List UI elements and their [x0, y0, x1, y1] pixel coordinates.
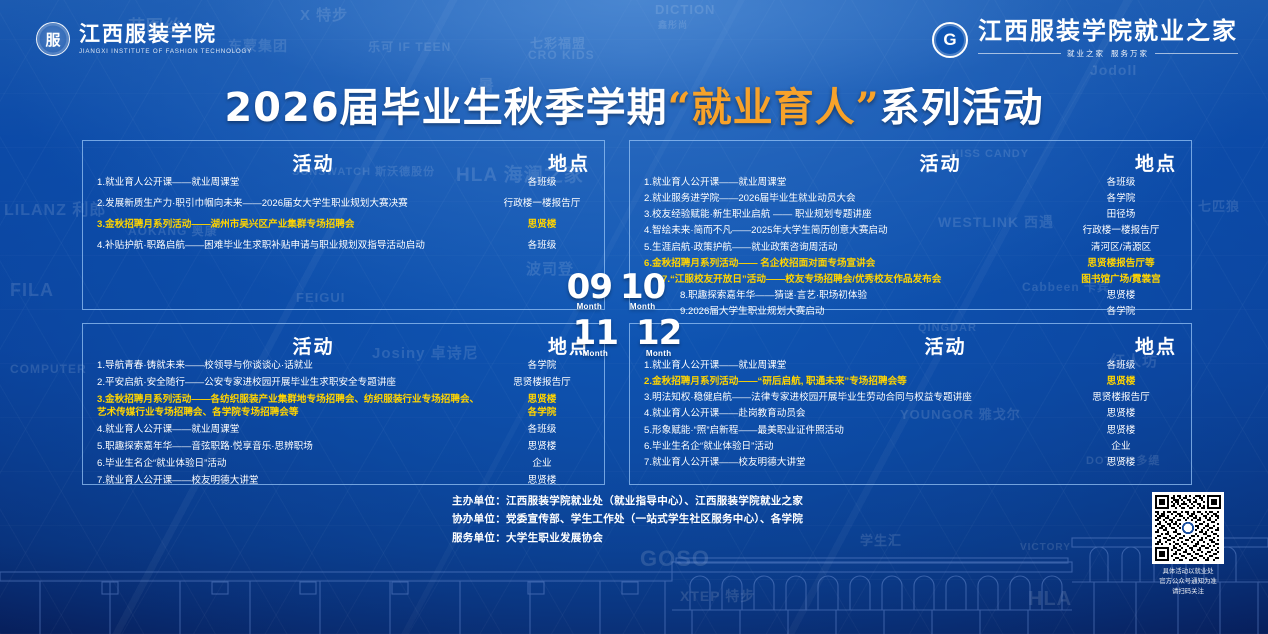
- activity-location: 各班级: [494, 240, 590, 253]
- activity-row: 4.补贴护航·职路启航——困难毕业生求职补贴申请与职业规划双指导活动启动各班级: [97, 240, 590, 253]
- column-header-activity: 活动: [37, 149, 590, 176]
- activity-rows: 1.就业育人公开课——就业周课堂各班级2.发展新质生产力·职引巾帼向未来——20…: [97, 177, 590, 253]
- activity-row: 4.就业育人公开课——赴岗教育动员会思贤楼: [644, 408, 1177, 421]
- activity-name: 2.发展新质生产力·职引巾帼向未来——2026届女大学生职业规划大赛决赛: [97, 198, 494, 211]
- activity-name: 9.2026届大学生职业规划大赛启动: [644, 306, 1065, 319]
- panel-header: 活动地点: [644, 332, 1177, 357]
- activity-name: 1.就业育人公开课——就业周课堂: [644, 360, 1065, 373]
- activity-row: 5.生涯启航·政策护航——就业政策咨询周活动清河区/清源区: [644, 242, 1177, 255]
- column-header-location: 地点: [1135, 332, 1177, 357]
- column-header-location: 地点: [548, 149, 590, 174]
- panel-header: 活动地点: [97, 332, 590, 357]
- activity-location: 思贤楼: [1065, 457, 1177, 470]
- activity-name: 1.导航青春·铸就未来——校领导与你谈谈心·话就业: [97, 360, 494, 373]
- activity-location: 思贤楼报告厅: [1065, 392, 1177, 405]
- activity-row: 1.导航青春·铸就未来——校领导与你谈谈心·话就业各学院: [97, 360, 590, 373]
- column-header-activity: 活动: [37, 332, 590, 359]
- activity-location: 企业: [1065, 441, 1177, 454]
- activity-location: 思贤楼: [494, 219, 590, 232]
- activity-row: 8.职趣探索嘉年华——猜谜·言艺·职场初体验思贤楼: [644, 290, 1177, 303]
- activity-row: 3.金秋招聘月系列活动——各纺织服装产业集群地专场招聘会、纺织服装行业专场招聘会…: [97, 394, 590, 420]
- sponsor-logo-watermark: COMPUTER: [10, 362, 87, 376]
- activity-location: 田径场: [1065, 209, 1177, 222]
- month-badge-09: 09Month: [567, 274, 612, 311]
- activity-row: 6.金秋招聘月系列活动—— 名企校招面对面专场宣讲会思贤楼报告厅等: [644, 258, 1177, 271]
- activity-row: 4.就业育人公开课——就业周课堂各班级: [97, 424, 590, 437]
- slogan-right: 服务万家: [1111, 48, 1149, 59]
- activity-location: 企业: [494, 458, 590, 471]
- employment-home-logo: G 江西服装学院就业之家 就业之家 服务万家: [932, 20, 1238, 59]
- column-header-location: 地点: [1135, 149, 1177, 174]
- column-header-activity: 活动: [714, 332, 1177, 359]
- page-title: 2026届毕业生秋季学期“就业育人”系列活动: [0, 88, 1268, 128]
- title-quoted-phrase: “就业育人”: [668, 84, 880, 131]
- activity-location: 各班级: [1065, 177, 1177, 190]
- activity-name: 1.就业育人公开课——就业周课堂: [644, 177, 1065, 190]
- month-panel-09: 活动地点1.就业育人公开课——就业周课堂各班级2.发展新质生产力·职引巾帼向未来…: [82, 140, 605, 310]
- activity-rows: 1.就业育人公开课——就业周课堂各班级2.就业服务进学院——2026届毕业生就业…: [644, 177, 1177, 319]
- activity-row: 2.就业服务进学院——2026届毕业生就业动员大会各学院: [644, 193, 1177, 206]
- activity-location: 思贤楼报告厅: [494, 377, 590, 390]
- activity-name: 2.平安启航·安全随行——公安专家进校园开展毕业生求职安全专题讲座: [97, 377, 494, 390]
- month-number: 12: [636, 320, 681, 348]
- slogan-rule-right: [1155, 53, 1238, 54]
- activity-name: 5.形象赋能·“照”启新程——最美职业证件照活动: [644, 425, 1065, 438]
- column-header-activity: 活动: [704, 149, 1177, 176]
- activity-name: 3.校友经验赋能·新生职业启航 —— 职业规划专题讲座: [644, 209, 1065, 222]
- activity-location: 思贤楼 各学院: [494, 394, 590, 420]
- activity-row: 3.校友经验赋能·新生职业启航 —— 职业规划专题讲座田径场: [644, 209, 1177, 222]
- month-badge-12: 12Month: [636, 320, 681, 357]
- slogan-rule-left: [978, 53, 1061, 54]
- title-part-2: 系列活动: [880, 85, 1044, 131]
- activity-name: 7.就业育人公开课——校友明德大讲堂: [97, 475, 494, 488]
- panel-header: 活动地点: [97, 149, 590, 174]
- activity-row: 2.发展新质生产力·职引巾帼向未来——2026届女大学生职业规划大赛决赛行政楼一…: [97, 198, 590, 211]
- sponsor-logo-watermark: FILA: [10, 280, 54, 301]
- activity-rows: 1.就业育人公开课——就业周课堂各班级2.金秋招聘月系列活动——“研后启航, 职…: [644, 360, 1177, 470]
- activity-location: 清河区/清源区: [1065, 242, 1177, 255]
- panel-header: 活动地点: [644, 149, 1177, 174]
- employment-home-name: 江西服装学院就业之家: [978, 20, 1238, 44]
- qr-caption-line: 请扫码关注: [1130, 587, 1246, 597]
- activity-name: 3.金秋招聘月系列活动——各纺织服装产业集群地专场招聘会、纺织服装行业专场招聘会…: [97, 394, 494, 420]
- activity-row: 6.毕业生名企“就业体验日”活动企业: [644, 441, 1177, 454]
- activity-row: 2.金秋招聘月系列活动——“研后启航, 职通未来”专场招聘会等思贤楼: [644, 376, 1177, 389]
- activity-row: 7.就业育人公开课——校友明德大讲堂思贤楼: [644, 457, 1177, 470]
- activity-location: 各学院: [1065, 193, 1177, 206]
- employment-home-slogan: 就业之家 服务万家: [978, 48, 1238, 59]
- activity-location: 各班级: [494, 424, 590, 437]
- qrcode-block: 具体活动以就业处官方公众号通知为准请扫码关注: [1130, 492, 1246, 597]
- activity-row: 7.就业育人公开课——校友明德大讲堂思贤楼: [97, 475, 590, 488]
- activity-row: 1.就业育人公开课——就业周课堂各班级: [644, 177, 1177, 190]
- month-number: 11: [573, 320, 618, 348]
- activity-location: 思贤楼: [1065, 425, 1177, 438]
- activity-row: 4.智绘未来·简而不凡——2025年大学生简历创意大赛启动行政楼一楼报告厅: [644, 225, 1177, 238]
- activity-name: 6.毕业生名企“就业体验日”活动: [644, 441, 1065, 454]
- activity-location: 各学院: [1065, 306, 1177, 319]
- activity-name: 3.明法知权·稳健启航——法律专家进校园开展毕业生劳动合同与权益专题讲座: [644, 392, 1065, 405]
- activity-name: 3.金秋招聘月系列活动——湖州市吴兴区产业集群专场招聘会: [97, 219, 494, 232]
- activity-location: 思贤楼: [494, 441, 590, 454]
- qr-caption: 具体活动以就业处官方公众号通知为准请扫码关注: [1130, 567, 1246, 597]
- activity-name: 8.职趣探索嘉年华——猜谜·言艺·职场初体验: [644, 290, 1065, 303]
- activity-location: 思贤楼报告厅等: [1065, 258, 1177, 271]
- qr-caption-line: 官方公众号通知为准: [1130, 577, 1246, 587]
- slogan-left: 就业之家: [1067, 48, 1105, 59]
- month-panel-10: 活动地点1.就业育人公开课——就业周课堂各班级2.就业服务进学院——2026届毕…: [629, 140, 1192, 310]
- university-name-cn: 江西服装学院: [79, 23, 252, 45]
- page-footer: 主办单位：江西服装学院就业处（就业指导中心）、江西服装学院就业之家协办单位：党委…: [0, 492, 1268, 547]
- activity-name: 2.就业服务进学院——2026届毕业生就业动员大会: [644, 193, 1065, 206]
- activity-location: 行政楼一楼报告厅: [1065, 225, 1177, 238]
- activity-name: 7.“江服校友开放日”活动——校友专场招聘会/优秀校友作品发布会: [644, 274, 1065, 287]
- month-label: Month: [630, 304, 656, 311]
- activity-name: 2.金秋招聘月系列活动——“研后启航, 职通未来”专场招聘会等: [644, 376, 1065, 389]
- activity-row: 1.就业育人公开课——就业周课堂各班级: [97, 177, 590, 190]
- activity-location: 思贤楼: [1065, 408, 1177, 421]
- activity-row: 7.“江服校友开放日”活动——校友专场招聘会/优秀校友作品发布会图书馆广场/霓裳…: [644, 274, 1177, 287]
- activity-location: 思贤楼: [494, 475, 590, 488]
- title-part-1: 2026届毕业生秋季学期: [224, 85, 667, 131]
- month-panel-12: 活动地点1.就业育人公开课——就业周课堂各班级2.金秋招聘月系列活动——“研后启…: [629, 323, 1192, 485]
- activity-location: 思贤楼: [1065, 376, 1177, 389]
- activity-name: 4.智绘未来·简而不凡——2025年大学生简历创意大赛启动: [644, 225, 1065, 238]
- activity-location: 各学院: [494, 360, 590, 373]
- activity-row: 5.形象赋能·“照”启新程——最美职业证件照活动思贤楼: [644, 425, 1177, 438]
- month-panels-grid: 活动地点1.就业育人公开课——就业周课堂各班级2.发展新质生产力·职引巾帼向未来…: [82, 140, 1192, 485]
- activity-location: 思贤楼: [1065, 290, 1177, 303]
- month-label: Month: [646, 351, 672, 358]
- activity-row: 1.就业育人公开课——就业周课堂各班级: [644, 360, 1177, 373]
- activity-location: 各班级: [1065, 360, 1177, 373]
- university-name-en: JIANGXI INSTITUTE OF FASHION TECHNOLOGY: [79, 48, 252, 55]
- activity-name: 5.生涯启航·政策护航——就业政策咨询周活动: [644, 242, 1065, 255]
- activity-name: 1.就业育人公开课——就业周课堂: [97, 177, 494, 190]
- month-panel-11: 活动地点1.导航青春·铸就未来——校领导与你谈谈心·话就业各学院2.平安启航·安…: [82, 323, 605, 485]
- qr-code-icon: [1155, 495, 1221, 561]
- activity-name: 6.金秋招聘月系列活动—— 名企校招面对面专场宣讲会: [644, 258, 1065, 271]
- activity-name: 7.就业育人公开课——校友明德大讲堂: [644, 457, 1065, 470]
- activity-row: 3.金秋招聘月系列活动——湖州市吴兴区产业集群专场招聘会思贤楼: [97, 219, 590, 232]
- university-seal-icon: 服: [36, 22, 70, 56]
- activity-row: 2.平安启航·安全随行——公安专家进校园开展毕业生求职安全专题讲座思贤楼报告厅: [97, 377, 590, 390]
- activity-name: 6.毕业生名企“就业体验日”活动: [97, 458, 494, 471]
- month-label: Month: [583, 351, 609, 358]
- activity-name: 4.就业育人公开课——就业周课堂: [97, 424, 494, 437]
- sponsor-logo-watermark: 七匹狼: [1198, 196, 1240, 215]
- activity-row: 5.职趣探索嘉年华——音弦职路·悦享音乐·思辨职场思贤楼: [97, 441, 590, 454]
- activity-rows: 1.导航青春·铸就未来——校领导与你谈谈心·话就业各学院2.平安启航·安全随行—…: [97, 360, 590, 488]
- activity-location: 图书馆广场/霓裳宫: [1065, 274, 1177, 287]
- activity-name: 4.补贴护航·职路启航——困难毕业生求职补贴申请与职业规划双指导活动启动: [97, 240, 494, 253]
- university-logo: 服 江西服装学院 JIANGXI INSTITUTE OF FASHION TE…: [36, 22, 252, 56]
- activity-row: 3.明法知权·稳健启航——法律专家进校园开展毕业生劳动合同与权益专题讲座思贤楼报…: [644, 392, 1177, 405]
- month-badge-10: 10Month: [620, 274, 665, 311]
- month-label: Month: [577, 304, 603, 311]
- activity-name: 4.就业育人公开课——赴岗教育动员会: [644, 408, 1065, 421]
- employment-home-seal-icon: G: [932, 22, 968, 58]
- activity-name: 5.职趣探索嘉年华——音弦职路·悦享音乐·思辨职场: [97, 441, 494, 454]
- month-number: 09: [567, 274, 612, 302]
- activity-location: 各班级: [494, 177, 590, 190]
- activity-row: 6.毕业生名企“就业体验日”活动企业: [97, 458, 590, 471]
- qr-code-image[interactable]: [1152, 492, 1224, 564]
- activity-location: 行政楼一楼报告厅: [494, 198, 590, 211]
- month-badge-11: 11Month: [573, 320, 618, 357]
- qr-caption-line: 具体活动以就业处: [1130, 567, 1246, 577]
- page-header: 服 江西服装学院 JIANGXI INSTITUTE OF FASHION TE…: [0, 0, 1268, 78]
- activity-row: 9.2026届大学生职业规划大赛启动各学院: [644, 306, 1177, 319]
- month-number: 10: [620, 274, 665, 302]
